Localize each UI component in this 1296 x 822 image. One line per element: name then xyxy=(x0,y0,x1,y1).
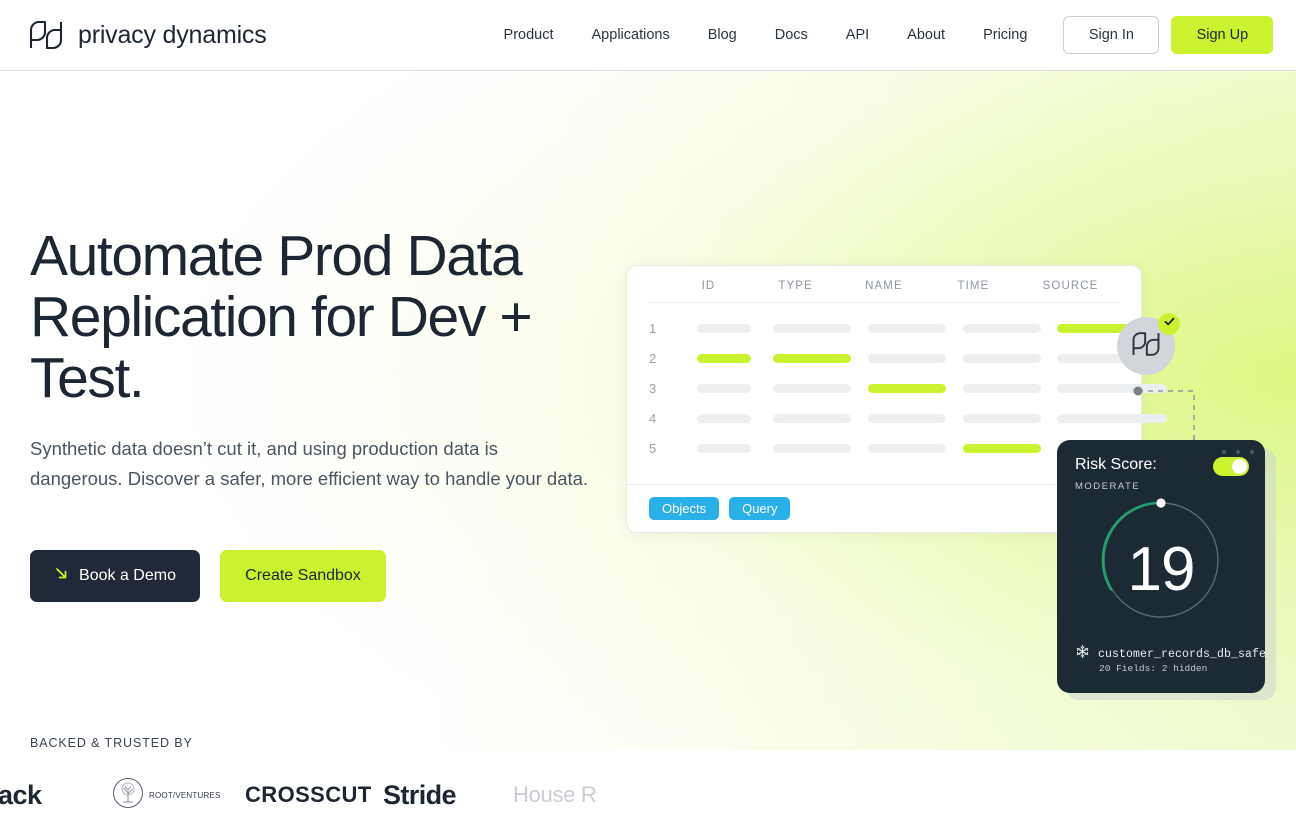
cell-time xyxy=(963,444,1041,453)
root-ventures-tree-icon xyxy=(112,777,144,814)
window-dot xyxy=(1222,450,1226,454)
logo-slack-text: ack xyxy=(0,780,42,811)
query-chip[interactable]: Query xyxy=(729,497,790,520)
row-number: 3 xyxy=(649,381,669,396)
hero-subcopy: Synthetic data doesn’t cut it, and using… xyxy=(30,434,590,494)
sign-up-button[interactable]: Sign Up xyxy=(1171,16,1273,54)
site-header: privacy dynamics Product Applications Bl… xyxy=(0,0,1296,71)
logo-root-ventures-text: ROOT/VENTURES xyxy=(149,791,221,800)
row-number: 4 xyxy=(649,411,669,426)
risk-toggle-switch[interactable] xyxy=(1213,457,1249,476)
risk-database-row: customer_records_db_safe xyxy=(1075,644,1265,664)
table-row: 4 xyxy=(649,403,1119,433)
risk-score-card: Risk Score: MODERATE 19 xyxy=(1057,440,1265,693)
risk-score-value: 19 xyxy=(1057,534,1265,605)
hero-content: Automate Prod Data Replication for Dev +… xyxy=(0,71,620,771)
risk-score-title: Risk Score: xyxy=(1075,456,1157,474)
logo-stride-text: Stride xyxy=(383,780,456,811)
column-header-name: NAME xyxy=(845,280,922,292)
cell-name xyxy=(868,414,946,423)
cell-time xyxy=(963,324,1041,333)
cell-type xyxy=(773,384,851,393)
create-sandbox-button[interactable]: Create Sandbox xyxy=(220,550,386,602)
logo-crosscut-text: CROSSCUT xyxy=(245,782,372,808)
fields-summary: 20 Fields: 2 hidden xyxy=(1099,663,1207,674)
landing-page: privacy dynamics Product Applications Bl… xyxy=(0,0,1296,822)
logo-root-ventures: ROOT/VENTURES xyxy=(112,772,221,818)
check-icon xyxy=(1163,315,1176,333)
logo-crosscut: CROSSCUT xyxy=(245,772,372,818)
brand-logo[interactable]: privacy dynamics xyxy=(26,17,267,53)
toggle-knob xyxy=(1232,459,1247,474)
trusted-by-label: BACKED & TRUSTED BY xyxy=(30,736,193,750)
database-name: customer_records_db_safe xyxy=(1098,648,1265,661)
cell-id xyxy=(697,414,751,423)
column-header-id: ID xyxy=(675,280,742,292)
cell-id xyxy=(697,444,751,453)
cell-time xyxy=(963,384,1041,393)
objects-chip[interactable]: Objects xyxy=(649,497,719,520)
book-a-demo-label: Book a Demo xyxy=(79,567,176,585)
table-header-row: ID TYPE NAME TIME SOURCE xyxy=(649,266,1119,303)
cell-name xyxy=(868,354,946,363)
page-title: Automate Prod Data Replication for Dev +… xyxy=(30,226,600,409)
row-number: 5 xyxy=(649,441,669,456)
table-row: 1 xyxy=(649,313,1119,343)
column-header-type: TYPE xyxy=(756,280,835,292)
cell-type xyxy=(773,414,851,423)
privacy-dynamics-logo-icon xyxy=(26,17,66,53)
column-header-source: SOURCE xyxy=(1022,280,1119,292)
cell-time xyxy=(963,414,1041,423)
row-number: 1 xyxy=(649,321,669,336)
sign-in-button[interactable]: Sign In xyxy=(1063,16,1159,54)
cell-type xyxy=(773,444,851,453)
snowflake-icon xyxy=(1075,644,1090,664)
hero-cta-row: Book a Demo Create Sandbox xyxy=(30,550,386,602)
cell-name xyxy=(868,384,946,393)
cell-id xyxy=(697,384,751,393)
cell-name xyxy=(868,444,946,453)
table-row: 5 xyxy=(649,433,1119,463)
cell-time xyxy=(963,354,1041,363)
cell-type xyxy=(773,354,851,363)
nav-item-blog[interactable]: Blog xyxy=(708,27,737,43)
privacy-dynamics-logo-icon xyxy=(1129,329,1163,364)
logo-slack: ack xyxy=(0,772,42,818)
auth-actions: Sign In Sign Up xyxy=(1063,16,1273,54)
window-dot xyxy=(1250,450,1254,454)
card-window-dots xyxy=(1222,450,1254,454)
column-header-time: TIME xyxy=(935,280,1012,292)
table-row: 2 xyxy=(649,343,1119,373)
nav-item-pricing[interactable]: Pricing xyxy=(983,27,1027,43)
nav-item-product[interactable]: Product xyxy=(504,27,554,43)
window-dot xyxy=(1236,450,1240,454)
arrow-down-right-icon xyxy=(54,566,69,586)
cell-type xyxy=(773,324,851,333)
logo-stride: Stride xyxy=(383,772,456,818)
logo-house-r-text: House R xyxy=(513,782,597,808)
nav-item-applications[interactable]: Applications xyxy=(592,27,670,43)
row-number: 2 xyxy=(649,351,669,366)
main-nav: Product Applications Blog Docs API About… xyxy=(504,27,1028,43)
partner-logo-strip: ack ROOT/VENTURES CROSSCUT Stride xyxy=(0,769,620,821)
table-row: 3 xyxy=(649,373,1119,403)
risk-level-label: MODERATE xyxy=(1075,481,1140,492)
book-a-demo-button[interactable]: Book a Demo xyxy=(30,550,200,602)
nav-item-about[interactable]: About xyxy=(907,27,945,43)
verified-check-badge xyxy=(1158,313,1180,335)
cell-id xyxy=(697,324,751,333)
nav-item-docs[interactable]: Docs xyxy=(775,27,808,43)
cell-id xyxy=(697,354,751,363)
brand-name: privacy dynamics xyxy=(78,21,267,50)
cell-name xyxy=(868,324,946,333)
logo-house-r: House R xyxy=(513,772,597,818)
nav-item-api[interactable]: API xyxy=(846,27,869,43)
